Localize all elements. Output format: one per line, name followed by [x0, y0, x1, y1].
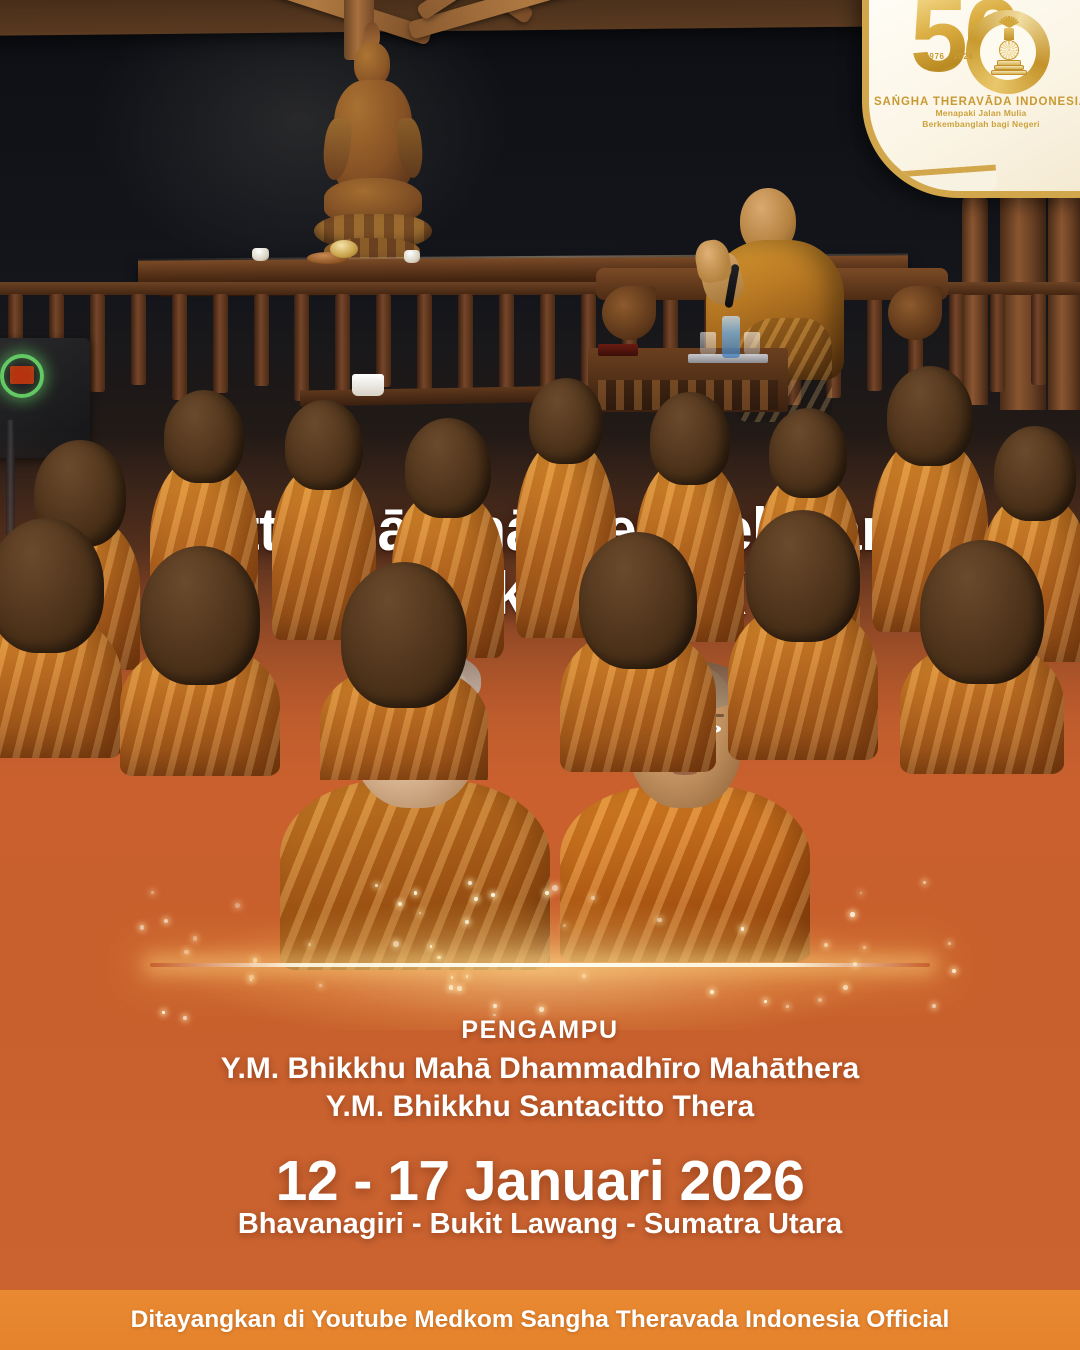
audience-monk-head: [285, 400, 363, 490]
offering-bowl-gold: [330, 240, 358, 258]
badge-tagline-first: Menapaki Jalan Mulia: [869, 108, 1080, 119]
audience-monk-head: [529, 378, 603, 464]
portrait-robe: [280, 780, 550, 970]
pengampu-label: PENGAMPU: [0, 1016, 1080, 1045]
badge-tagline-second: Berkembanglah bagi Negeri: [869, 119, 1080, 130]
audience-monk: [0, 518, 122, 758]
event-date: 12 - 17 Januari 2026: [0, 1148, 1080, 1214]
audience-monk-head: [887, 366, 973, 466]
audience-monk: [120, 546, 280, 776]
golden-light-streak: [150, 963, 930, 967]
offering-cup: [404, 250, 420, 263]
stupa-icon: [988, 24, 1030, 80]
pengampu-name-2: Y.M. Bhikkhu Santacitto Thera: [0, 1088, 1080, 1126]
pengampu-names: Y.M. Bhikkhu Mahā Dhammadhīro Mahāthera …: [0, 1050, 1080, 1127]
audience-monk-head: [769, 408, 847, 498]
audience-monk-head: [579, 532, 697, 669]
offering-cup: [252, 248, 269, 261]
audience-monk: [320, 562, 488, 780]
audience-monk-head: [140, 546, 260, 685]
audience-monk-head: [405, 418, 491, 518]
event-venue: Bhavanagiri - Bukit Lawang - Sumatra Uta…: [0, 1208, 1080, 1241]
logo-50: 50 1976 - 2026: [906, 0, 1056, 90]
audience-monk: [560, 532, 716, 772]
portrait-robe: [560, 786, 810, 962]
audience-monk-head: [746, 510, 860, 642]
audience-monk: [728, 510, 878, 760]
speaking-monk-hand: [693, 237, 734, 284]
pengampu-name-1: Y.M. Bhikkhu Mahā Dhammadhīro Mahāthera: [0, 1050, 1080, 1088]
audience-monk-head: [164, 390, 244, 483]
poster-canvas: 50 1976 - 2026 SAṄGHA THERAVĀDA INDONESI…: [0, 0, 1080, 1350]
audience-monk-head: [341, 562, 467, 708]
audience-monk-head: [650, 392, 730, 485]
dharma-wheel-icon: [999, 40, 1019, 60]
broadcast-footer-text: Ditayangkan di Youtube Medkom Sangha The…: [131, 1306, 950, 1334]
audience-monk-head: [920, 540, 1044, 684]
stupa-spire: [1004, 28, 1014, 40]
audience-monk-head: [994, 426, 1076, 521]
anniversary-years: 1976 - 2026: [918, 52, 980, 61]
audience-monk-head: [0, 518, 104, 653]
stupa-tier: [991, 70, 1027, 75]
anniversary-badge: 50 1976 - 2026 SAṄGHA THERAVĀDA INDONESI…: [862, 0, 1080, 198]
broadcast-footer-bar: Ditayangkan di Youtube Medkom Sangha The…: [0, 1290, 1080, 1350]
organization-name: SAṄGHA THERAVĀDA INDONESIA: [869, 96, 1080, 108]
audience-monk: [900, 540, 1064, 774]
